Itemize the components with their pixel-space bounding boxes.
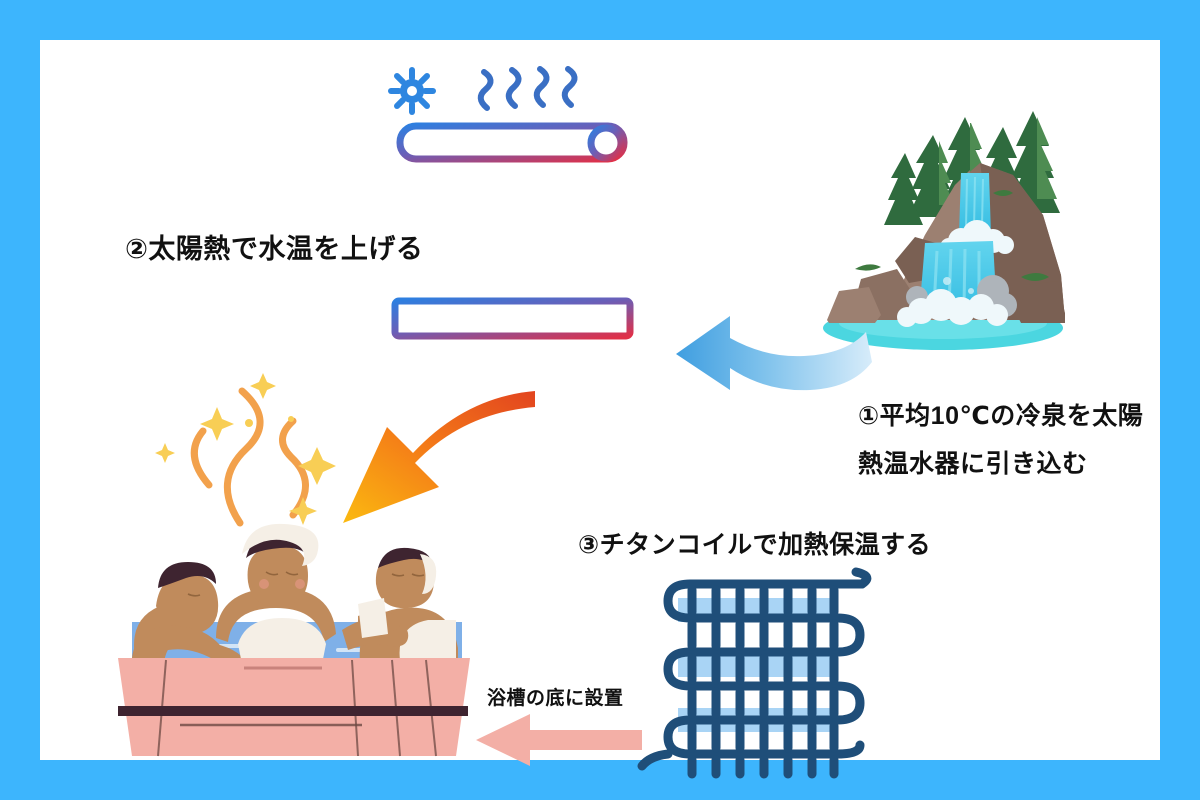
step2-caption: ②太陽熱で水温を上げる (125, 230, 423, 269)
arrow-coil-to-bathtub (472, 712, 642, 768)
step1-caption-line2: 熱温水器に引き込む (858, 446, 1143, 482)
infographic-root: ②太陽熱で水温を上げる ①平均10℃の冷泉を太陽 熱温水器に引き込む ③チタンコ… (0, 0, 1200, 800)
held-towel (358, 598, 388, 638)
infographic-canvas: ②太陽熱で水温を上げる ①平均10℃の冷泉を太陽 熱温水器に引き込む ③チタンコ… (40, 40, 1160, 760)
step1-caption: ①平均10℃の冷泉を太陽 熱温水器に引き込む (858, 398, 1143, 483)
solar-water-heater-icon (380, 58, 650, 358)
steam-wisp (194, 391, 305, 523)
person-right (342, 548, 458, 664)
heater-fins (412, 159, 601, 303)
step3-caption: ③チタンコイルで加熱保温する (578, 527, 931, 563)
hot-tub-illustration (70, 510, 490, 770)
arrow-waterfall-to-heater (660, 302, 880, 412)
titanium-coil-icon (630, 560, 900, 775)
sun-icon (391, 70, 433, 112)
heat-wave-icon (481, 69, 575, 108)
heater-top-manifold (400, 126, 624, 159)
heater-base (395, 301, 630, 336)
tub-band (118, 706, 468, 716)
install-caption: 浴槽の底に設置 (487, 685, 624, 713)
step1-caption-line1: ①平均10℃の冷泉を太陽 (858, 398, 1143, 434)
